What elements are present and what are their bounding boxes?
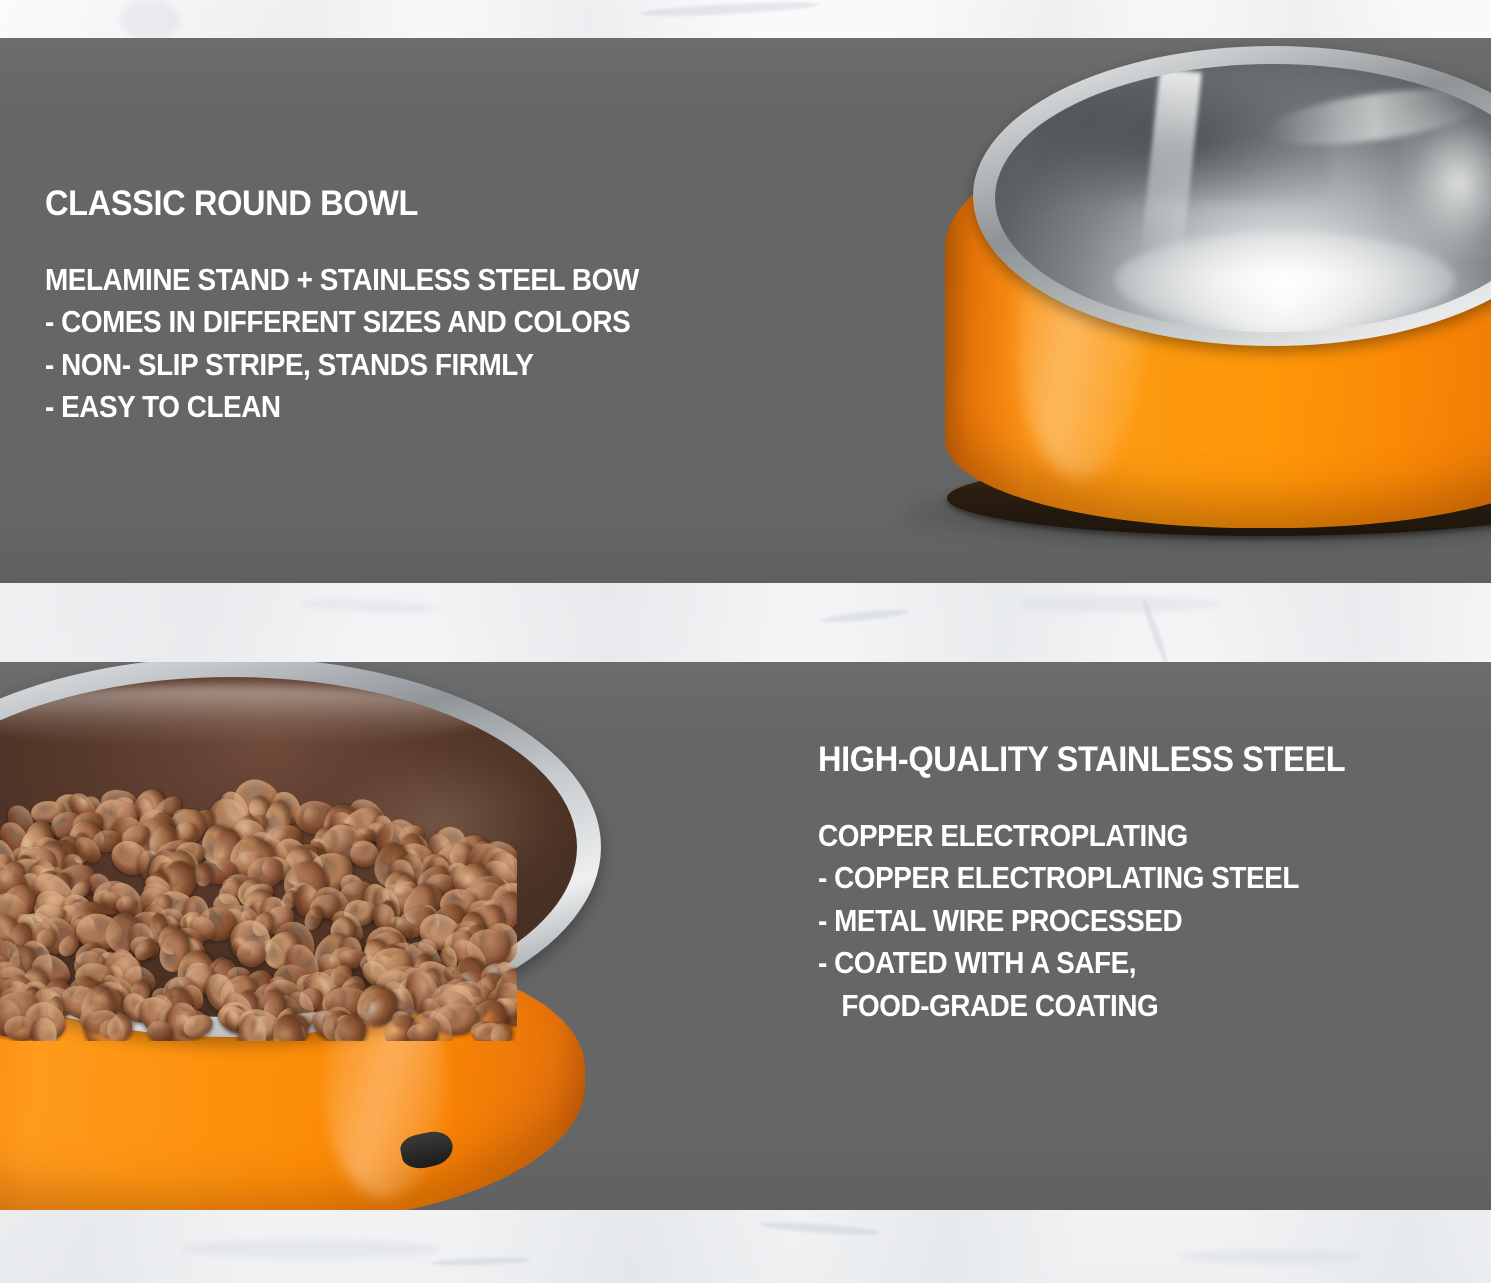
panel-body-list: MELAMINE STAND + STAINLESS STEEL BOW - C… (45, 259, 705, 429)
panel-copy-top: CLASSIC ROUND BOWL MELAMINE STAND + STAI… (45, 186, 705, 429)
product-feature-graphic: CLASSIC ROUND BOWL MELAMINE STAND + STAI… (0, 0, 1491, 1283)
steel-reflection-band (0, 685, 485, 745)
product-photo-empty-bowl (895, 38, 1491, 583)
dry-dog-food-kibble (0, 773, 517, 1041)
body-line: MELAMINE STAND + STAINLESS STEEL BOW (45, 259, 639, 301)
feature-panel-classic-round-bowl: CLASSIC ROUND BOWL MELAMINE STAND + STAI… (0, 38, 1491, 583)
body-line: - EASY TO CLEAN (45, 386, 639, 428)
kibble-piece (116, 896, 138, 913)
body-line: - NON- SLIP STRIPE, STANDS FIRMLY (45, 344, 639, 386)
body-line: - COMES IN DIFFERENT SIZES AND COLORS (45, 301, 639, 343)
product-photo-filled-bowl (0, 662, 725, 1210)
product-photo-filled-bowl-clip (0, 662, 1491, 1210)
steel-bottom-highlight (1115, 232, 1455, 328)
steel-reflection-glare (1399, 108, 1491, 258)
panel-headline: CLASSIC ROUND BOWL (45, 186, 659, 223)
